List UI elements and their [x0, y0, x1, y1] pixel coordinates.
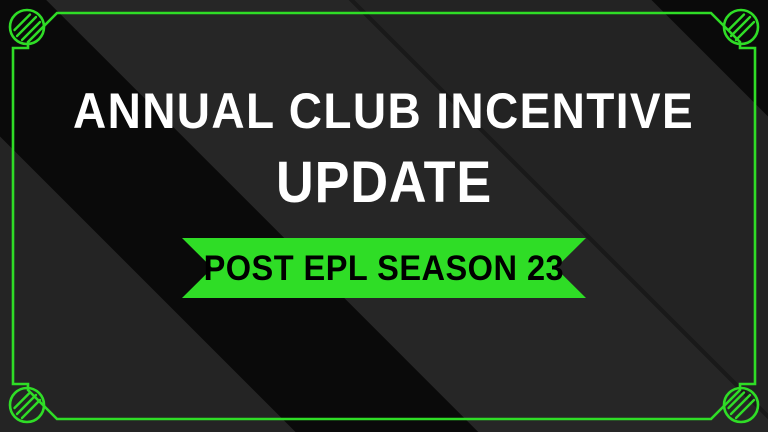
poster-content: ANNUAL CLUB INCENTIVE UPDATE POST EPL SE… [0, 0, 768, 432]
ribbon-banner: POST EPL SEASON 23 [182, 238, 586, 298]
page-title: ANNUAL CLUB INCENTIVE [73, 86, 694, 136]
ribbon-label: POST EPL SEASON 23 [204, 251, 565, 286]
poster-canvas: ANNUAL CLUB INCENTIVE UPDATE POST EPL SE… [0, 0, 768, 432]
page-subtitle: UPDATE [276, 154, 492, 212]
